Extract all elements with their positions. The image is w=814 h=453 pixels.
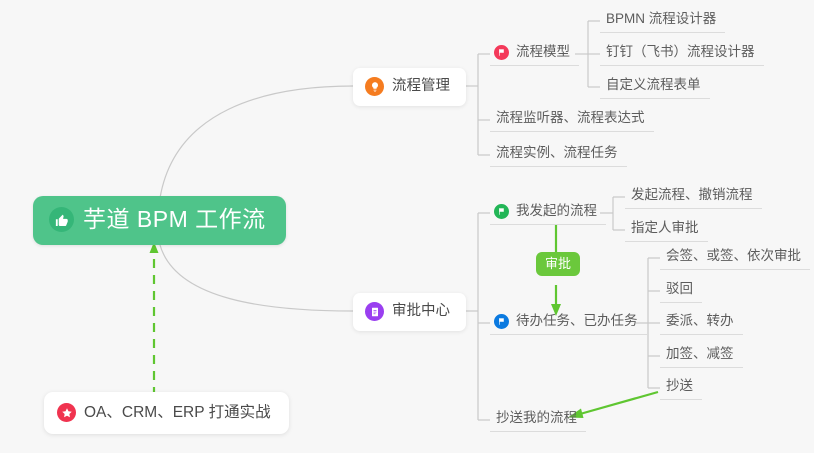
node-label-my-initiated: 我发起的流程 [516, 204, 597, 219]
node-label-delegate-transfer: 委派、转办 [666, 314, 734, 329]
tag-node-approval[interactable]: 审批 [536, 252, 580, 276]
clipboard-icon [365, 302, 384, 321]
node-dingtalk-designer[interactable]: 钉钉（飞书）流程设计器 [600, 42, 764, 66]
branch-node-process-management[interactable]: 流程管理 [353, 68, 466, 106]
flag-green-icon [494, 204, 509, 219]
link-root-to-approval-center [160, 245, 353, 311]
branch-label-process-management: 流程管理 [392, 79, 450, 94]
node-label-start-cancel: 发起流程、撤销流程 [631, 188, 753, 203]
node-label-listener-expression: 流程监听器、流程表达式 [496, 111, 645, 126]
node-cc-to-me[interactable]: 抄送我的流程 [490, 408, 586, 432]
node-add-remove-sign[interactable]: 加签、减签 [660, 344, 743, 368]
node-start-cancel[interactable]: 发起流程、撤销流程 [625, 185, 762, 209]
node-delegate-transfer[interactable]: 委派、转办 [660, 311, 743, 335]
branch-node-approval-center[interactable]: 审批中心 [353, 293, 466, 331]
node-label-reject: 驳回 [666, 282, 693, 297]
arrow-callout-to-root [150, 242, 159, 396]
node-listener-expression[interactable]: 流程监听器、流程表达式 [490, 108, 654, 132]
lightbulb-icon [365, 77, 384, 96]
node-bpmn-designer[interactable]: BPMN 流程设计器 [600, 9, 725, 33]
node-label-custom-form: 自定义流程表单 [606, 78, 701, 93]
flag-red-icon [494, 45, 509, 60]
node-label-countersign: 会签、或签、依次审批 [666, 249, 801, 264]
node-label-instance-task: 流程实例、流程任务 [496, 146, 618, 161]
node-label-add-remove-sign: 加签、减签 [666, 347, 734, 362]
node-todo-done[interactable]: 待办任务、已办任务 [490, 311, 647, 335]
node-my-initiated[interactable]: 我发起的流程 [490, 201, 606, 225]
branch-label-approval-center: 审批中心 [392, 304, 450, 319]
node-reject[interactable]: 驳回 [660, 279, 702, 303]
node-label-cc: 抄送 [666, 379, 693, 394]
star-icon [57, 403, 76, 422]
node-instance-task[interactable]: 流程实例、流程任务 [490, 143, 627, 167]
callout-label: OA、CRM、ERP 打通实战 [84, 405, 271, 421]
node-process-model[interactable]: 流程模型 [490, 42, 579, 66]
node-label-dingtalk-designer: 钉钉（飞书）流程设计器 [606, 45, 755, 60]
root-label: 芋道 BPM 工作流 [83, 208, 266, 231]
node-assignee-approval[interactable]: 指定人审批 [625, 218, 708, 242]
node-custom-form[interactable]: 自定义流程表单 [600, 75, 710, 99]
node-label-assignee-approval: 指定人审批 [631, 221, 699, 236]
link-root-to-process-management [160, 86, 353, 198]
node-label-cc-to-me: 抄送我的流程 [496, 411, 577, 426]
flag-blue-icon [494, 314, 509, 329]
node-label-process-model: 流程模型 [516, 45, 570, 60]
node-label-todo-done: 待办任务、已办任务 [516, 314, 638, 329]
thumbs-up-icon [49, 207, 74, 232]
node-countersign[interactable]: 会签、或签、依次审批 [660, 246, 810, 270]
node-label-bpmn-designer: BPMN 流程设计器 [606, 12, 716, 27]
tag-label-approval: 审批 [545, 257, 571, 270]
node-cc[interactable]: 抄送 [660, 376, 702, 400]
callout-node-oa-crm-erp[interactable]: OA、CRM、ERP 打通实战 [44, 392, 289, 434]
mindmap-canvas: 芋道 BPM 工作流 OA、CRM、ERP 打通实战 流程管理 流程模型 流程 [0, 0, 814, 453]
root-node[interactable]: 芋道 BPM 工作流 [33, 196, 286, 245]
